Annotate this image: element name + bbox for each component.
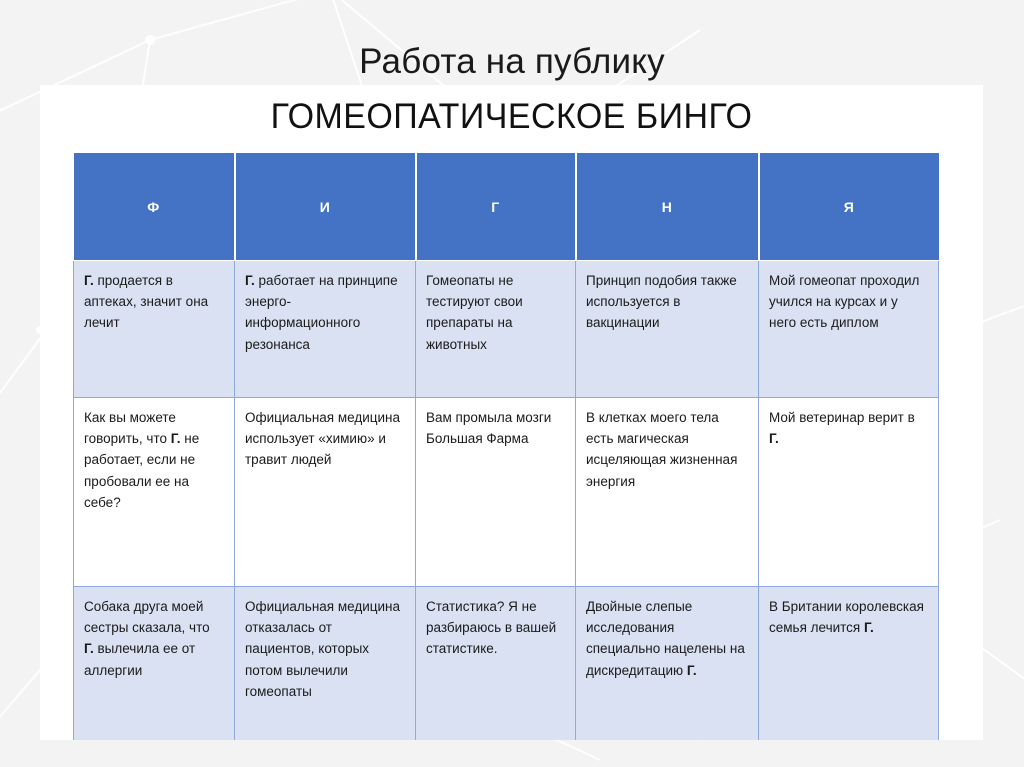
bingo-heading: ГОМЕОПАТИЧЕСКОЕ БИНГО — [54, 97, 969, 137]
column-header-i: И — [235, 153, 416, 261]
bingo-cell-text: Гомеопаты не тестируют свои препараты на… — [426, 270, 564, 355]
table-header-row: Ф И Г Н Я — [74, 153, 939, 261]
bingo-cell[interactable]: Собака друга моей сестры сказала, что Г.… — [74, 587, 235, 741]
table-row: Г. продается в аптеках, значит она лечит… — [74, 261, 939, 398]
bingo-table: Ф И Г Н Я Г. продается в аптеках, значит… — [73, 153, 939, 740]
page-title: Работа на публику — [0, 41, 1024, 83]
bingo-cell-text: В Британии королевская семья лечится Г. — [769, 596, 927, 638]
bingo-cell[interactable]: Вам промыла мозги Большая Фарма — [416, 398, 576, 587]
bingo-cell-text: Мой ветеринар верит в Г. — [769, 407, 927, 449]
column-header-n: Н — [576, 153, 759, 261]
bingo-cell[interactable]: Официальная медицина отказалась от пацие… — [235, 587, 416, 741]
bingo-cell-text: Мой гомеопат проходил учился на курсах и… — [769, 270, 927, 334]
bingo-cell-text: Статистика? Я не разбираюсь в вашей стат… — [426, 596, 564, 660]
bingo-cell-text: Как вы можете говорить, что Г. не работа… — [84, 407, 223, 513]
bingo-cell-text: Принцип подобия также используется в вак… — [586, 270, 747, 334]
bingo-cell-text: Официальная медицина использует «химию» … — [245, 407, 404, 471]
bingo-cell-text: Официальная медицина отказалась от пацие… — [245, 596, 404, 702]
bingo-cell-text: В клетках моего тела есть магическая исц… — [586, 407, 747, 492]
column-header-g: Г — [416, 153, 576, 261]
table-row: Собака друга моей сестры сказала, что Г.… — [74, 587, 939, 741]
slide-content-panel: ГОМЕОПАТИЧЕСКОЕ БИНГО Ф И Г Н Я Г. прода… — [40, 85, 983, 740]
table-row: Как вы можете говорить, что Г. не работа… — [74, 398, 939, 587]
bingo-cell-text: Вам промыла мозги Большая Фарма — [426, 407, 564, 449]
bingo-cell[interactable]: Мой ветеринар верит в Г. — [759, 398, 939, 587]
bingo-cell-text: Собака друга моей сестры сказала, что Г.… — [84, 596, 223, 681]
bingo-cell[interactable]: Мой гомеопат проходил учился на курсах и… — [759, 261, 939, 398]
column-header-ya: Я — [759, 153, 939, 261]
column-header-f: Ф — [74, 153, 235, 261]
bingo-cell[interactable]: В Британии королевская семья лечится Г. — [759, 587, 939, 741]
bingo-cell[interactable]: Двойные слепые исследования специально н… — [576, 587, 759, 741]
bingo-cell-text: Г. продается в аптеках, значит она лечит — [84, 270, 223, 334]
bingo-cell[interactable]: Гомеопаты не тестируют свои препараты на… — [416, 261, 576, 398]
bingo-cell[interactable]: Г. продается в аптеках, значит она лечит — [74, 261, 235, 398]
bingo-cell[interactable]: Принцип подобия также используется в вак… — [576, 261, 759, 398]
bingo-cell[interactable]: Официальная медицина использует «химию» … — [235, 398, 416, 587]
bingo-cell[interactable]: В клетках моего тела есть магическая исц… — [576, 398, 759, 587]
bingo-cell[interactable]: Как вы можете говорить, что Г. не работа… — [74, 398, 235, 587]
bingo-cell[interactable]: Статистика? Я не разбираюсь в вашей стат… — [416, 587, 576, 741]
bingo-cell[interactable]: Г. работает на принципе энерго-информаци… — [235, 261, 416, 398]
bingo-cell-text: Г. работает на принципе энерго-информаци… — [245, 270, 404, 355]
bingo-cell-text: Двойные слепые исследования специально н… — [586, 596, 747, 681]
